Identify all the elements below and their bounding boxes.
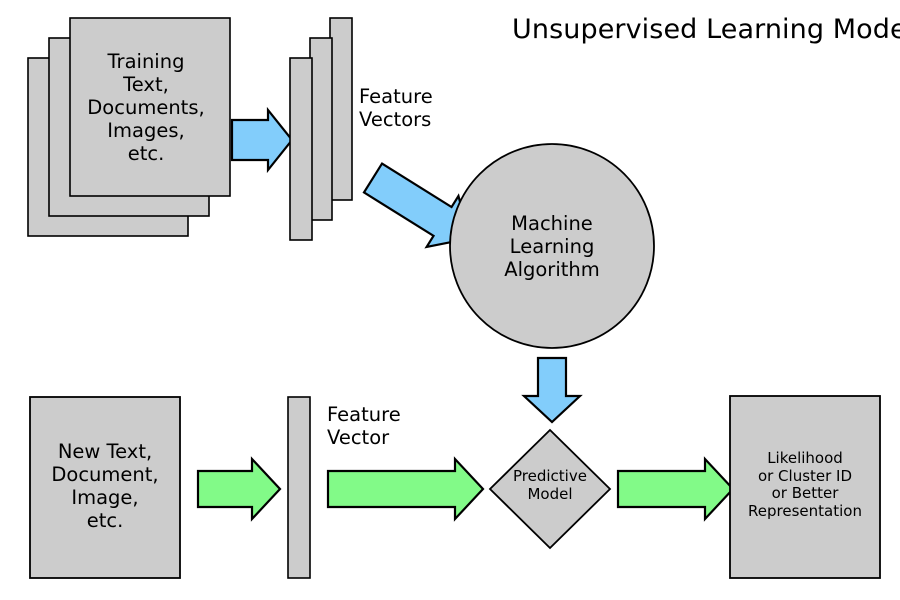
arrow-new-input-to-feature-vector <box>198 459 280 519</box>
machine-learning-algorithm-circle <box>450 144 654 348</box>
arrow-training-to-feature-vectors <box>232 110 292 170</box>
unsupervised-learning-diagram: Unsupervised Learning Model Training Tex… <box>0 0 900 600</box>
feature-vector-single-bar <box>288 397 310 578</box>
feature-vector-bar-back <box>330 18 352 200</box>
predictive-model-diamond <box>490 430 610 548</box>
output-rectangle <box>730 396 880 578</box>
training-document-card-front <box>70 18 230 196</box>
feature-vector-bar-front <box>290 58 312 240</box>
arrow-feature-vector-to-predictive-model <box>328 459 483 519</box>
arrow-algorithm-to-predictive-model <box>524 358 580 422</box>
feature-vector-bar-middle <box>310 38 332 220</box>
new-input-rectangle <box>30 397 180 578</box>
arrow-predictive-model-to-output <box>618 459 733 519</box>
diagram-shapes-layer <box>0 0 900 600</box>
